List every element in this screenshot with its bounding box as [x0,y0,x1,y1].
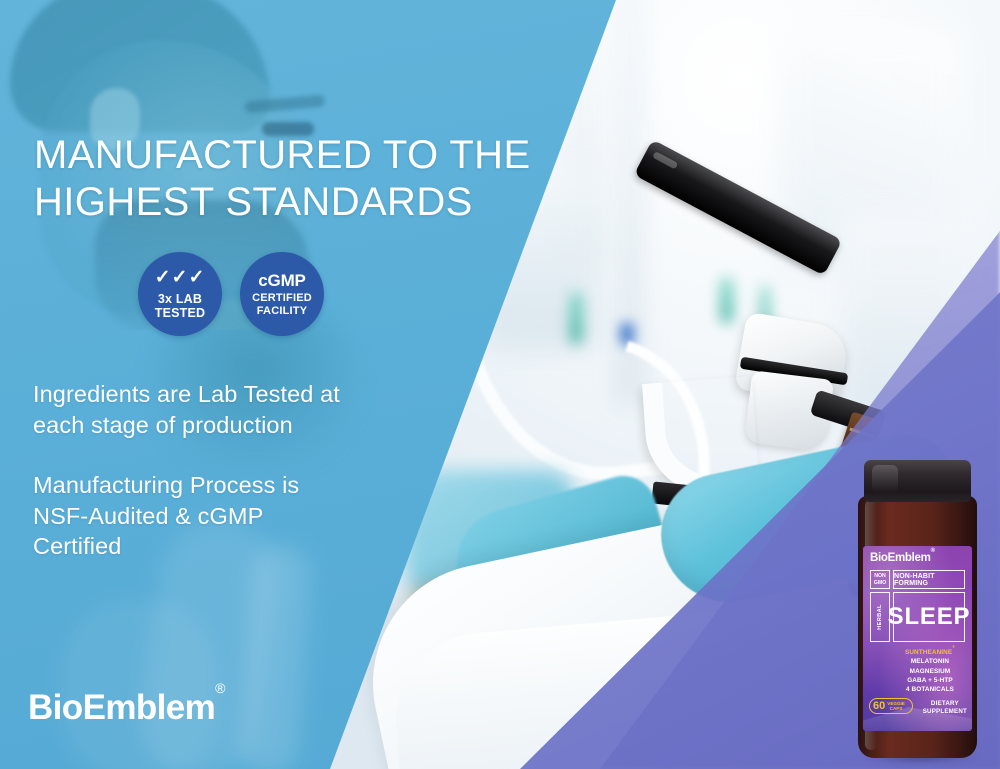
paragraph-lab-testing: Ingredients are Lab Tested at each stage… [33,379,433,440]
badge-lab-tested-line-1: 3x LAB [158,292,202,306]
badge-cgmp-line-1: cGMP [258,271,305,290]
non-gmo-line-2: GMO [874,580,886,586]
registered-trademark-icon: ® [931,548,935,554]
paragraph-manufacturing: Manufacturing Process is NSF-Audited & c… [33,470,433,562]
paragraph-1-line-1: Ingredients are Lab Tested at [33,379,433,410]
ingredient-item-magnesium: MAGNESIUM [893,667,967,676]
capsule-count: 60 [873,701,885,712]
bottle-label: BioEmblem® NON GMO HERBAL NON-HABIT FORM… [863,546,972,731]
paragraph-1-line-2: each stage of production [33,410,433,441]
product-name: SLEEP [888,605,971,629]
checkmarks-icon: ✓✓✓ [155,268,206,287]
label-brand-text: BioEmblem [870,552,931,564]
badge-lab-tested: ✓✓✓ 3x LAB TESTED [138,252,222,336]
headline-line-2: HIGHEST STANDARDS [34,179,554,226]
badge-cgmp-line-3: FACILITY [257,305,308,317]
non-habit-forming-claim: NON-HABIT FORMING [893,570,965,589]
body-copy: Ingredients are Lab Tested at each stage… [33,379,433,562]
brand-logo: BioEmblem® [28,688,225,728]
capsule-count-badge: 60 VEGGIE CAPS [869,698,913,714]
badge-lab-tested-line-2: TESTED [155,306,206,320]
paragraph-2-line-1: Manufacturing Process is [33,470,433,501]
dietary-line-2: SUPPLEMENT [923,708,967,716]
registered-trademark-icon: ® [215,680,225,696]
ingredient-item-gaba-5htp: GABA + 5-HTP [893,676,967,685]
dietary-supplement-text: DIETARY SUPPLEMENT [923,700,967,717]
registered-trademark-icon: ® [952,645,955,649]
headline: MANUFACTURED TO THE HIGHEST STANDARDS [34,132,554,226]
paragraph-2-line-2: NSF-Audited & cGMP [33,501,433,532]
capsule-unit: VEGGIE CAPS [887,701,905,712]
ingredient-list: SUNTHEANINE® MELATONIN MAGNESIUM GABA + … [893,648,967,695]
ingredient-item-melatonin: MELATONIN [893,657,967,666]
badge-cgmp: cGMP CERTIFIED FACILITY [240,252,324,336]
capsule-unit-line-1: VEGGIE [887,701,905,706]
capsule-unit-line-2: CAPS [890,706,903,711]
ingredient-item-suntheanine: SUNTHEANINE® [893,648,967,657]
product-bottle: BioEmblem® NON GMO HERBAL NON-HABIT FORM… [855,460,980,760]
label-brand: BioEmblem® [870,552,935,564]
non-gmo-badge: NON GMO [870,570,890,589]
bottle-cap [864,460,971,502]
ingredient-text: SUNTHEANINE [905,649,952,656]
product-name-box: SLEEP [893,592,965,642]
badge-cgmp-line-2: CERTIFIED [252,292,312,304]
dietary-line-1: DIETARY [923,700,967,708]
paragraph-2-line-3: Certified [33,531,433,562]
headline-line-1: MANUFACTURED TO THE [34,132,554,179]
herbal-label: HERBAL [877,604,883,630]
trust-badges: ✓✓✓ 3x LAB TESTED cGMP CERTIFIED FACILIT… [138,252,324,336]
brand-logo-text: BioEmblem [28,688,215,727]
ingredient-item-botanicals: 4 BOTANICALS [893,685,967,694]
coat-fold [60,600,220,769]
marketing-banner: MANUFACTURED TO THE HIGHEST STANDARDS ✓✓… [0,0,1000,769]
